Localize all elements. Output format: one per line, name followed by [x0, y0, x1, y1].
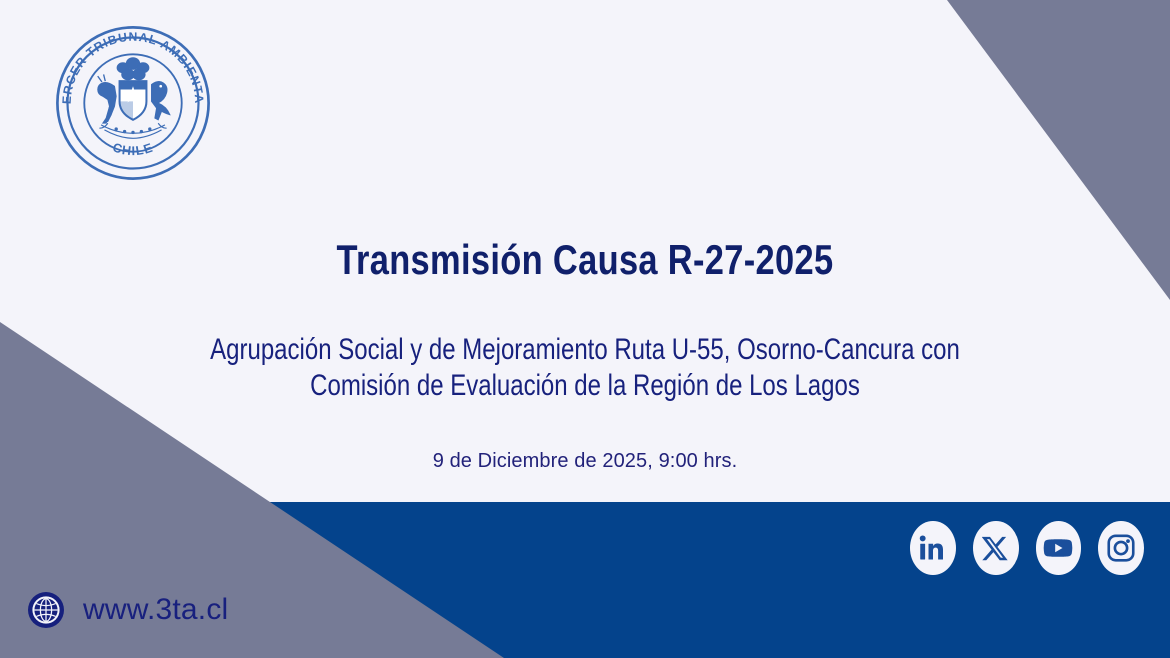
globe-icon: [26, 590, 66, 630]
linkedin-button[interactable]: [910, 521, 956, 575]
instagram-button[interactable]: [1098, 521, 1144, 575]
linkedin-icon: [918, 533, 948, 563]
page-title: Transmisión Causa R-27-2025: [105, 236, 1064, 284]
subtitle-line-2: Comisión de Evaluación de la Región de L…: [117, 368, 1053, 404]
website-url-text: www.3ta.cl: [83, 593, 228, 627]
institution-seal-logo: TERCER TRIBUNAL AMBIENTAL CHILE: [43, 19, 223, 187]
youtube-button[interactable]: [1036, 521, 1082, 575]
hearing-datetime: 9 de Diciembre de 2025, 9:00 hrs.: [0, 450, 1170, 473]
x-twitter-button[interactable]: [973, 521, 1019, 575]
svg-text:CHILE: CHILE: [111, 140, 155, 158]
seal-bottom-text: CHILE: [111, 140, 155, 158]
instagram-icon: [1106, 533, 1136, 563]
x-twitter-icon: [982, 534, 1010, 562]
case-parties-subtitle: Agrupación Social y de Mejoramiento Ruta…: [117, 332, 1053, 404]
website-link[interactable]: www.3ta.cl: [26, 590, 228, 630]
social-links: [910, 519, 1144, 577]
subtitle-line-1: Agrupación Social y de Mejoramiento Ruta…: [117, 332, 1053, 368]
broadcast-title-slide: TERCER TRIBUNAL AMBIENTAL CHILE: [0, 0, 1170, 658]
coat-of-arms: [98, 58, 170, 139]
youtube-icon: [1043, 533, 1073, 563]
